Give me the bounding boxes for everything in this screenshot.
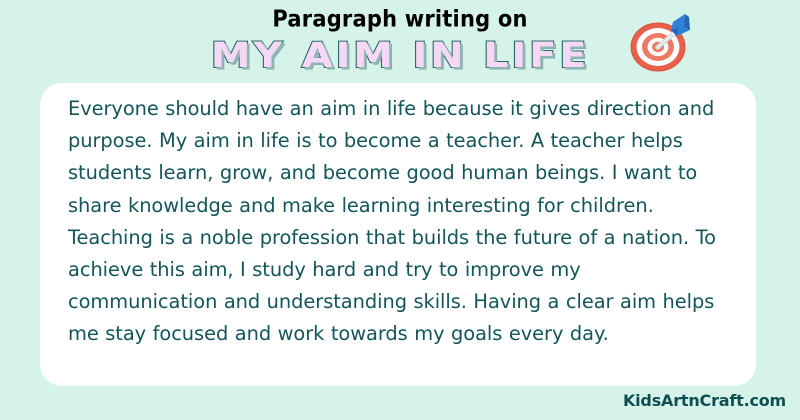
footer: KidsArtnCraft.com [0,391,800,420]
site-credit: KidsArtnCraft.com [623,391,786,410]
paragraph-card: Everyone should have an aim in life beca… [40,83,756,386]
poster-canvas: Paragraph writing on MY AIM IN LIFE E [0,0,800,420]
paragraph-text: Everyone should have an aim in life beca… [68,93,730,351]
header: Paragraph writing on MY AIM IN LIFE [0,0,800,82]
dartboard-target-icon [627,6,695,72]
card-body: Everyone should have an aim in life beca… [68,93,730,351]
